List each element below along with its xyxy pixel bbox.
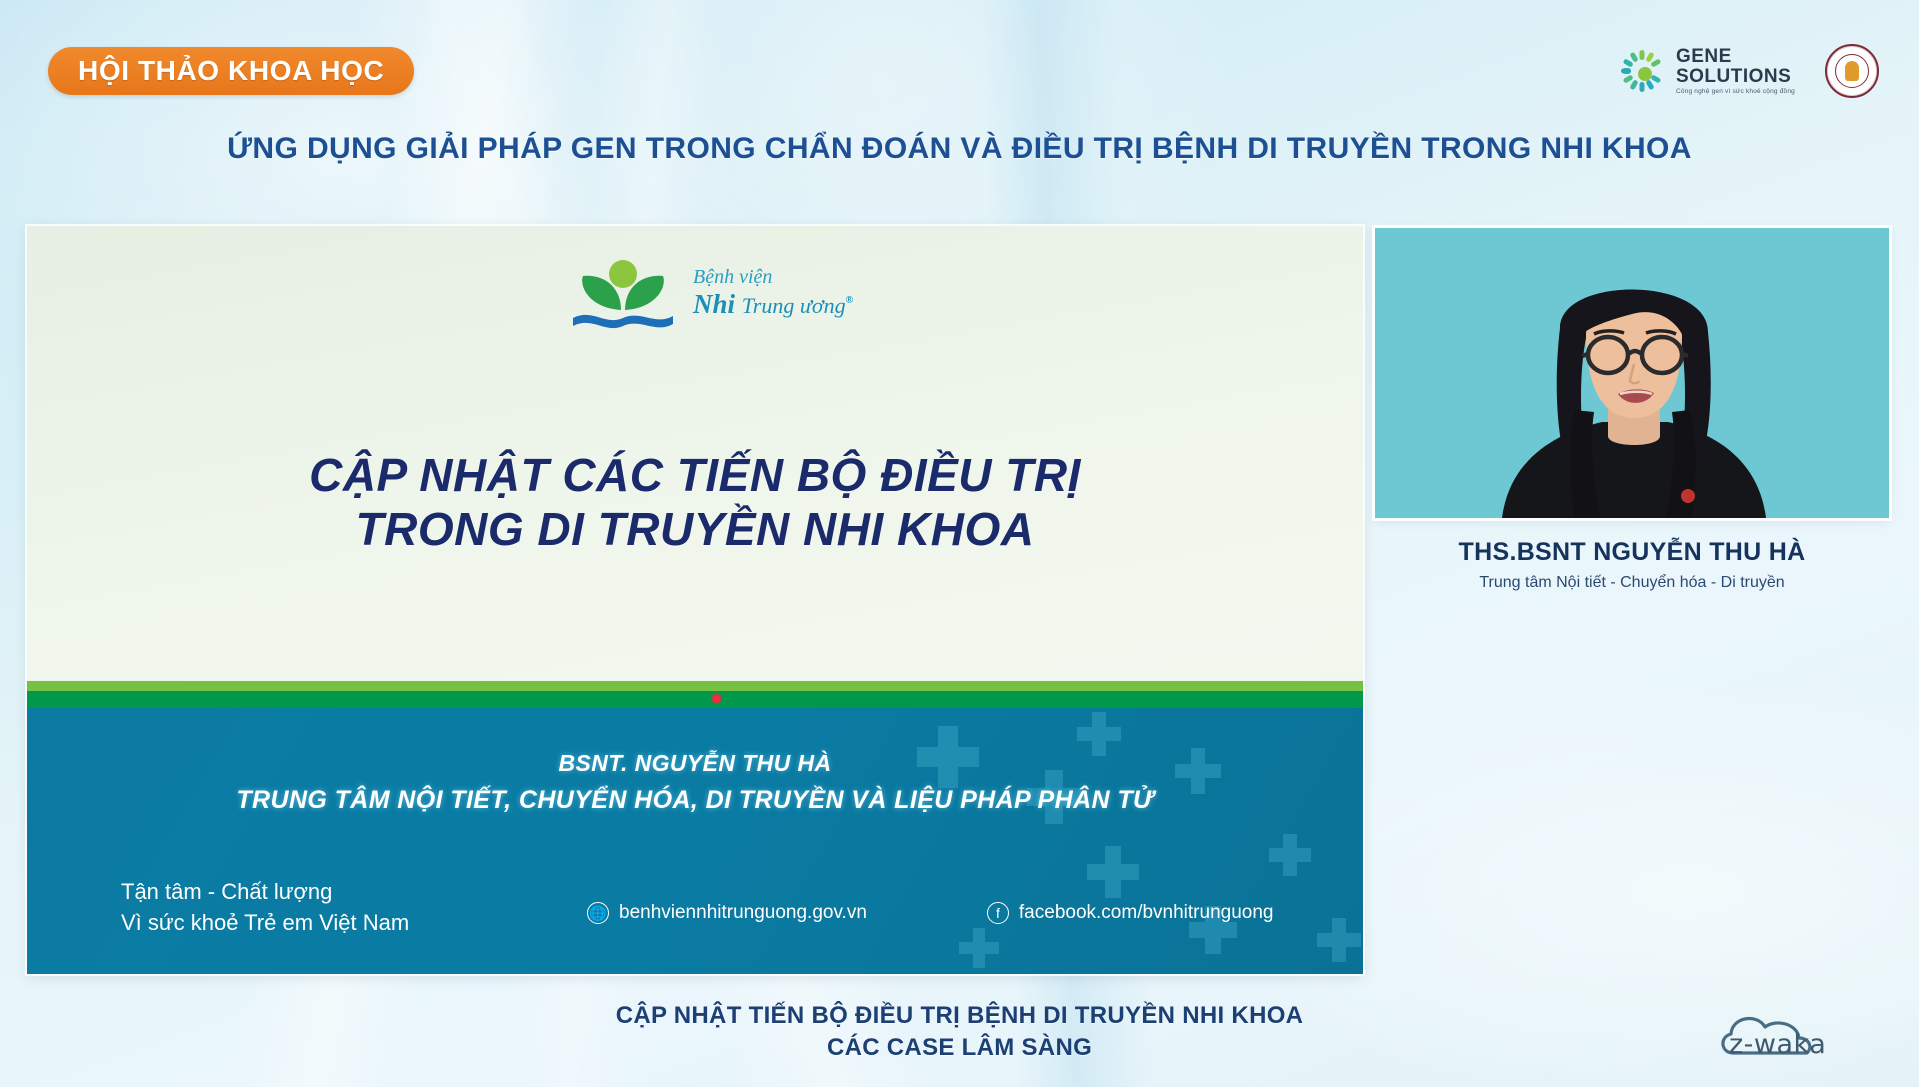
speaker-portrait bbox=[1482, 260, 1782, 518]
hospital-motto-line1: Tận tâm - Chất lượng bbox=[121, 876, 409, 907]
partner-logos: GENE SOLUTIONS Công nghệ gen vì sức khoẻ… bbox=[1617, 44, 1879, 98]
globe-icon: 🌐 bbox=[587, 902, 609, 924]
hospital-motto: Tận tâm - Chất lượng Vì sức khoẻ Trẻ em … bbox=[121, 876, 409, 938]
session-caption-line1: CẬP NHẬT TIẾN BỘ ĐIỀU TRỊ BỆNH DI TRUYỀN… bbox=[0, 1000, 1919, 1032]
gene-logo-line1: GENE bbox=[1676, 47, 1795, 66]
plus-decoration-icon bbox=[1269, 834, 1311, 876]
hospital-contact-links: 🌐 benhviennhitrunguong.gov.vn f facebook… bbox=[587, 902, 1323, 924]
laser-pointer-dot bbox=[711, 693, 722, 704]
conference-badge: HỘI THẢO KHOA HỌC bbox=[48, 47, 414, 95]
conference-title: ỨNG DỤNG GIẢI PHÁP GEN TRONG CHẨN ĐOÁN V… bbox=[0, 132, 1919, 166]
plus-decoration-icon bbox=[1317, 918, 1361, 962]
slide-title-line2: TRONG DI TRUYỀN NHI KHOA bbox=[27, 502, 1363, 556]
hospital-logo-line1: Bệnh viện bbox=[693, 266, 853, 289]
facebook-icon: f bbox=[987, 902, 1009, 924]
gene-solutions-wordmark: GENE SOLUTIONS Công nghệ gen vì sức khoẻ… bbox=[1676, 47, 1795, 96]
gene-solutions-logo: GENE SOLUTIONS Công nghệ gen vì sức khoẻ… bbox=[1617, 46, 1795, 96]
gene-logo-tagline: Công nghệ gen vì sức khoẻ cộng đồng bbox=[1676, 89, 1795, 96]
gene-logo-line2: SOLUTIONS bbox=[1676, 67, 1795, 86]
speaker-name: THS.BSNT NGUYỄN THU HÀ bbox=[1375, 538, 1889, 567]
website-url: benhviennhitrunguong.gov.vn bbox=[619, 902, 867, 924]
facebook-url: facebook.com/bvnhitrunguong bbox=[1019, 902, 1274, 924]
hospital-seal-icon bbox=[1825, 44, 1879, 98]
presentation-slide: Bệnh viện Nhi Trung ương® CẬP NHẬT CÁC T… bbox=[27, 226, 1363, 974]
slide-accent-band-dark bbox=[27, 691, 1363, 708]
slide-title-line1: CẬP NHẬT CÁC TIẾN BỘ ĐIỀU TRỊ bbox=[27, 448, 1363, 502]
conference-badge-label: HỘI THẢO KHOA HỌC bbox=[78, 55, 384, 87]
hospital-motto-line2: Vì sức khoẻ Trẻ em Việt Nam bbox=[121, 907, 409, 938]
slide-presenter-department: TRUNG TÂM NỘI TIẾT, CHUYỂN HÓA, DI TRUYỀ… bbox=[27, 786, 1363, 815]
slide-presenter-name: BSNT. NGUYỄN THU HÀ bbox=[27, 750, 1363, 777]
hospital-logo-trunguong: Trung ương bbox=[742, 293, 846, 318]
hospital-logo-nhi: Nhi bbox=[693, 289, 735, 319]
webinar-screen: HỘI THẢO KHOA HỌC ỨNG DỤNG GIẢI PHÁP GEN… bbox=[0, 0, 1919, 1087]
zwaka-watermark: z-waka bbox=[1713, 1007, 1881, 1069]
plus-decoration-icon bbox=[959, 928, 999, 968]
facebook-link[interactable]: f facebook.com/bvnhitrunguong bbox=[987, 902, 1274, 924]
speaker-role: Trung tâm Nội tiết - Chuyển hóa - Di tru… bbox=[1375, 574, 1889, 592]
gene-solutions-swirl-icon bbox=[1617, 46, 1667, 96]
website-link[interactable]: 🌐 benhviennhitrunguong.gov.vn bbox=[587, 902, 867, 924]
slide-presenter-block: BSNT. NGUYỄN THU HÀ TRUNG TÂM NỘI TIẾT, … bbox=[27, 750, 1363, 815]
speaker-video-feed[interactable] bbox=[1375, 228, 1889, 518]
zwaka-watermark-text: z-waka bbox=[1729, 1029, 1826, 1060]
plus-decoration-icon bbox=[1087, 846, 1139, 898]
session-caption: CẬP NHẬT TIẾN BỘ ĐIỀU TRỊ BỆNH DI TRUYỀN… bbox=[0, 1000, 1919, 1063]
slide-title: CẬP NHẬT CÁC TIẾN BỘ ĐIỀU TRỊ TRONG DI T… bbox=[27, 448, 1363, 557]
session-caption-line2: CÁC CASE LÂM SÀNG bbox=[0, 1032, 1919, 1064]
hospital-logo-tm: ® bbox=[846, 295, 853, 306]
nhi-trung-uong-leaf-icon bbox=[567, 258, 679, 332]
nhi-trung-uong-wordmark: Bệnh viện Nhi Trung ương® bbox=[693, 266, 853, 332]
slide-footer: BSNT. NGUYỄN THU HÀ TRUNG TÂM NỘI TIẾT, … bbox=[27, 708, 1363, 974]
nhi-trung-uong-logo: Bệnh viện Nhi Trung ương® bbox=[567, 258, 853, 332]
hospital-logo-line2: Nhi Trung ương® bbox=[693, 289, 853, 320]
